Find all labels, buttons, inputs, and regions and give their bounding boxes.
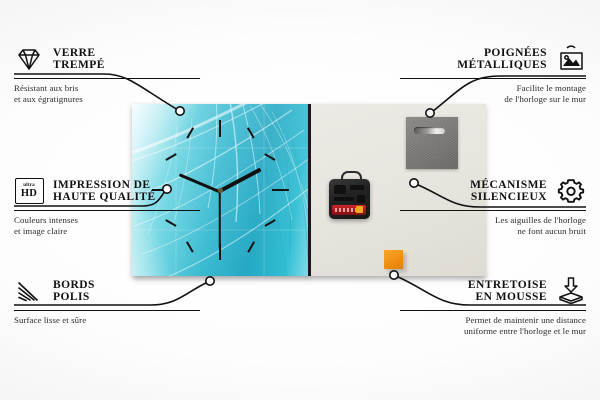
gear-icon bbox=[556, 176, 586, 206]
feature-sub-line2: uniforme entre l'horloge et le mur bbox=[400, 326, 586, 337]
feature-divider bbox=[400, 78, 586, 79]
feature-entretoise-en-mousse: ENTRETOISE EN MOUSSE Permet de maintenir… bbox=[400, 276, 586, 337]
ultra-hd-icon: ultra HD bbox=[14, 176, 44, 206]
feature-sub-line1: Les aiguilles de l'horloge bbox=[400, 215, 586, 226]
feature-sub-line1: Surface lisse et sûre bbox=[14, 315, 200, 326]
feature-sub-line2: et aux égratignures bbox=[14, 94, 200, 105]
feature-title-line1: MÉCANISME bbox=[470, 179, 547, 192]
feature-poignees-metalliques: POIGNÉES MÉTALLIQUES Facilite le montage… bbox=[400, 44, 586, 105]
feature-bords-polis: BORDS POLIS Surface lisse et sûre bbox=[14, 276, 200, 326]
feature-title-line1: ENTRETOISE bbox=[468, 279, 547, 292]
diamond-icon bbox=[14, 44, 44, 74]
feature-divider bbox=[14, 310, 200, 311]
feature-divider bbox=[400, 210, 586, 211]
feature-title-line1: VERRE bbox=[53, 47, 105, 60]
ultra-hd-big-label: HD bbox=[21, 189, 37, 200]
feature-sub-line1: Permet de maintenir une distance bbox=[400, 315, 586, 326]
feature-title-line1: POIGNÉES bbox=[457, 47, 547, 60]
feature-sub-line1: Couleurs intenses bbox=[14, 215, 200, 226]
feature-title-line2: SILENCIEUX bbox=[470, 191, 547, 204]
infographic-canvas: VERRE TREMPÉ Résistant aux bris et aux é… bbox=[0, 0, 600, 400]
feature-sub-line2: et image claire bbox=[14, 226, 200, 237]
feature-verre-trempe: VERRE TREMPÉ Résistant aux bris et aux é… bbox=[14, 44, 200, 105]
feature-sub-line1: Facilite le montage bbox=[400, 83, 586, 94]
feature-title-line2: MÉTALLIQUES bbox=[457, 59, 547, 72]
feature-divider bbox=[400, 310, 586, 311]
feature-mecanisme-silencieux: MÉCANISME SILENCIEUX Les aiguilles de l'… bbox=[400, 176, 586, 237]
feature-title-line2: HAUTE QUALITÉ bbox=[53, 191, 156, 204]
feature-title-line1: BORDS bbox=[53, 279, 95, 292]
feature-title-line2: TREMPÉ bbox=[53, 59, 105, 72]
feature-sub-line1: Résistant aux bris bbox=[14, 83, 200, 94]
foam-spacer-icon bbox=[556, 276, 586, 306]
feature-title-line2: POLIS bbox=[53, 291, 95, 304]
feature-title-line2: EN MOUSSE bbox=[468, 291, 547, 304]
feature-sub-line2: de l'horloge sur le mur bbox=[400, 94, 586, 105]
feature-divider bbox=[14, 210, 200, 211]
feature-title-line1: IMPRESSION DE bbox=[53, 179, 156, 192]
feature-impression-haute-qualite: ultra HD IMPRESSION DE HAUTE QUALITÉ Cou… bbox=[14, 176, 200, 237]
picture-hanger-icon bbox=[556, 44, 586, 74]
feature-divider bbox=[14, 78, 200, 79]
polished-edges-icon bbox=[14, 276, 44, 306]
feature-sub-line2: ne font aucun bruit bbox=[400, 226, 586, 237]
